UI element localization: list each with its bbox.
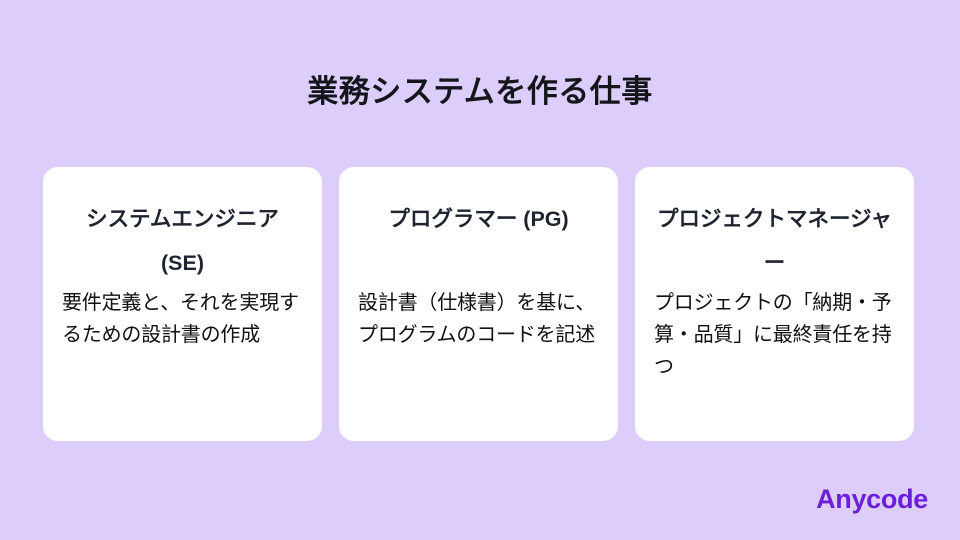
role-card-heading: プログラマー (PG) xyxy=(358,197,599,285)
role-card-heading: プロジェクトマネージャー xyxy=(654,197,895,285)
role-card: プログラマー (PG) 設計書（仕様書）を基に、プログラムのコードを記述 xyxy=(339,167,618,441)
role-card-body: 設計書（仕様書）を基に、プログラムのコードを記述 xyxy=(358,287,599,351)
page-title: 業務システムを作る仕事 xyxy=(0,72,960,112)
brand-logo: Anycode xyxy=(816,484,928,514)
role-card: プロジェクトマネージャー プロジェクトの「納期・予算・品質」に最終責任を持つ xyxy=(635,167,914,441)
role-card-body: 要件定義と、それを実現するための設計書の作成 xyxy=(62,287,303,351)
slide-canvas: 業務システムを作る仕事 システムエンジニア (SE) 要件定義と、それを実現する… xyxy=(0,0,960,540)
role-card-body: プロジェクトの「納期・予算・品質」に最終責任を持つ xyxy=(654,287,895,383)
role-card-heading: システムエンジニア (SE) xyxy=(62,197,303,285)
role-card-list: システムエンジニア (SE) 要件定義と、それを実現するための設計書の作成 プロ… xyxy=(43,167,914,441)
role-card: システムエンジニア (SE) 要件定義と、それを実現するための設計書の作成 xyxy=(43,167,322,441)
